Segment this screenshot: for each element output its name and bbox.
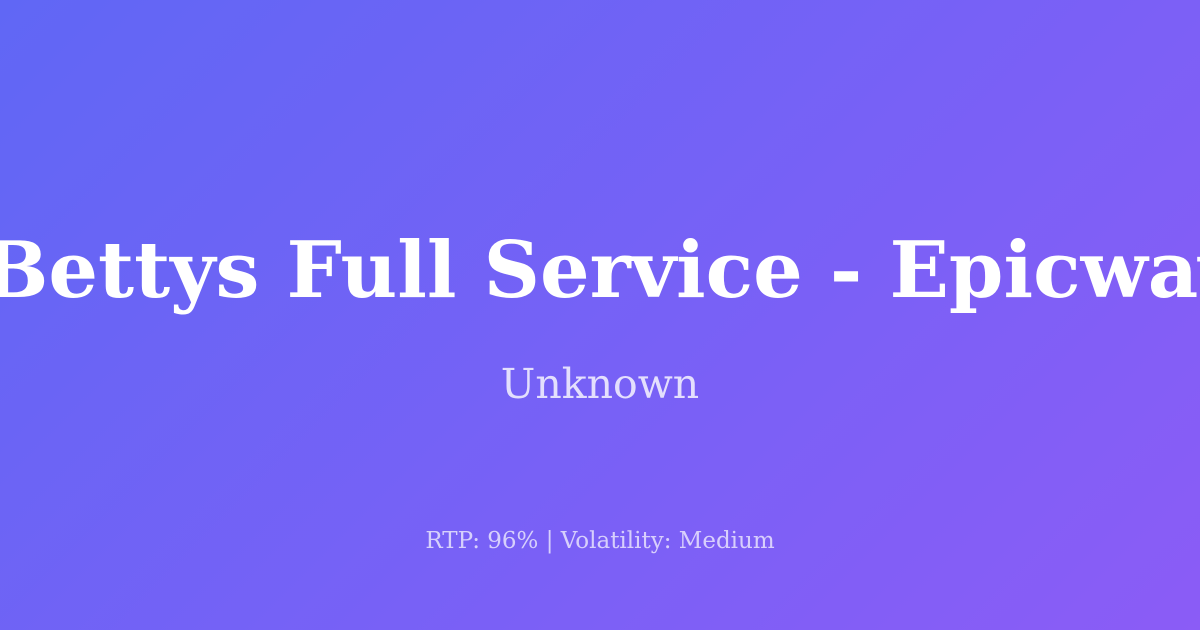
og-social-card: 1 F 3 0 Bettys Full Service - Epicways U… [0, 0, 1200, 630]
page-title: Bettys Full Service - Epicways [0, 232, 1200, 310]
game-provider-subtitle: Unknown [0, 361, 1200, 408]
game-stats-line: RTP: 96% | Volatility: Medium [0, 528, 1200, 556]
game-title-row: 1 F 3 0 Bettys Full Service - Epicways [0, 232, 1200, 310]
